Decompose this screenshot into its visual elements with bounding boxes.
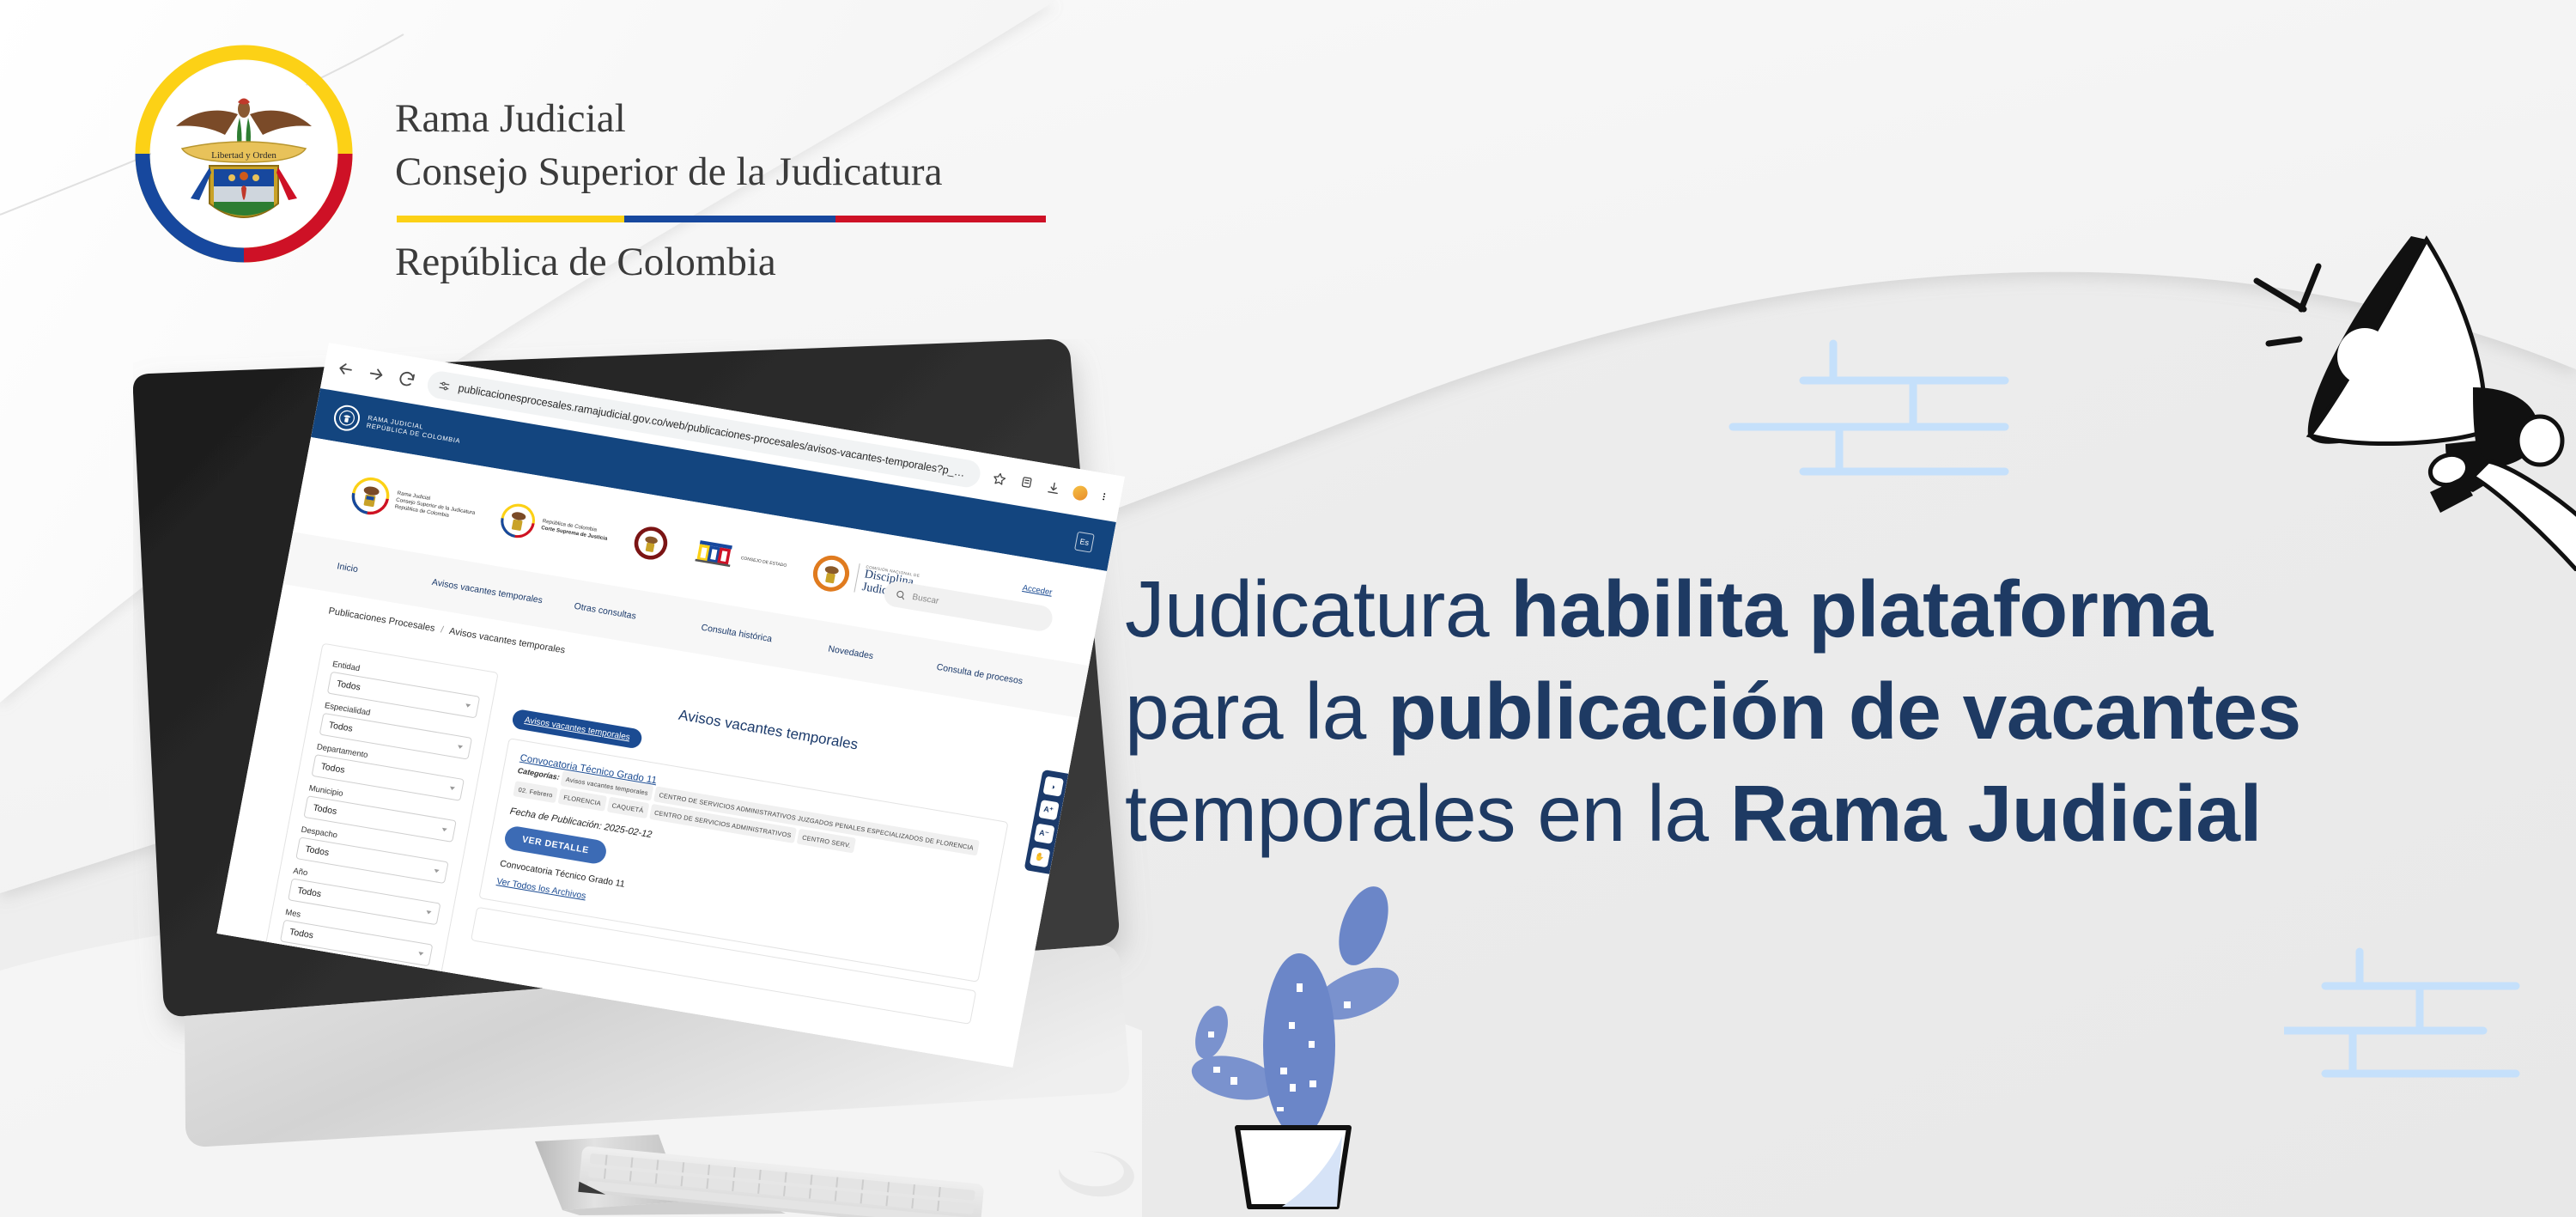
chevron-down-icon: [457, 745, 463, 749]
chevron-down-icon: [434, 869, 440, 873]
brand-line-3: República de Colombia: [395, 238, 1046, 286]
corte-suprema-seal-icon: [497, 500, 539, 541]
category-chip[interactable]: CAQUETÁ: [606, 797, 649, 819]
filter-value-departamento: Todos: [320, 761, 346, 775]
emblem-corte-suprema-label: República de Colombia Corte Suprema de J…: [540, 518, 609, 543]
institutional-header: Libertad y Orden Rama Judicial Consejo S…: [129, 47, 1046, 286]
headline-seg-2: habilita plataforma: [1510, 564, 2212, 654]
topbar-brand: RAMA JUDICIAL REPÚBLICA DE COLOMBIA: [331, 403, 464, 449]
brick-pattern-bottom: [2284, 936, 2576, 1108]
result-categories-label: Categorías:: [517, 766, 561, 782]
site-settings-icon[interactable]: [437, 378, 453, 392]
chevron-down-icon: [441, 828, 447, 832]
filter-value-especialidad: Todos: [328, 720, 354, 733]
result-date-value: 2025-02-12: [604, 822, 653, 840]
filter-value-despacho: Todos: [304, 844, 330, 858]
chevron-down-icon: [418, 952, 424, 956]
filter-value-mes: Todos: [289, 927, 314, 940]
nav-item-consulta-historica[interactable]: Consulta histórica: [700, 622, 829, 654]
search-icon: [895, 589, 907, 601]
increase-text-icon[interactable]: A⁺: [1038, 800, 1060, 820]
headline-seg-5: temporales en la: [1125, 769, 1730, 858]
rama-judicial-seal-icon: [348, 473, 394, 519]
tricolor-rule: [397, 216, 1046, 222]
filter-value-municipio: Todos: [313, 803, 338, 817]
chevron-down-icon: [426, 910, 432, 915]
megaphone-icon: [2215, 219, 2576, 571]
consejo-de-estado-icon: [691, 533, 738, 574]
sign-language-icon[interactable]: ✋: [1029, 847, 1050, 867]
emblem-rama-judicial: Rama Judicial Consejo Superior de la Jud…: [348, 473, 479, 532]
nav-item-inicio[interactable]: Inicio: [336, 561, 433, 587]
cactus-icon: [1181, 863, 1438, 1217]
kebab-menu-icon[interactable]: [1098, 488, 1110, 505]
filter-value-ano: Todos: [296, 885, 322, 899]
avatar[interactable]: [1072, 484, 1089, 502]
brand-line-1: Rama Judicial: [395, 92, 1046, 145]
reload-icon[interactable]: [396, 368, 418, 390]
emblem-corte-suprema: República de Colombia Corte Suprema de J…: [497, 500, 611, 553]
language-switch[interactable]: Es: [1074, 532, 1095, 553]
nav-item-consulta-procesos[interactable]: Consulta de procesos: [936, 661, 1024, 687]
share-icon[interactable]: [1018, 475, 1036, 493]
emblem-consejo-de-estado: CONSEJO DE ESTADO: [691, 533, 790, 582]
headline-seg-1: Judicatura: [1125, 564, 1510, 654]
consejo-de-estado-label: CONSEJO DE ESTADO: [740, 555, 787, 569]
desktop-computer-mockup: publicacionesprocesales.ramajudicial.gov…: [133, 339, 1163, 1217]
topbar-seal-label: RAMA JUDICIAL REPÚBLICA DE COLOMBIA: [366, 413, 463, 445]
emblem-rama-judicial-label: Rama Judicial Consejo Superior de la Jud…: [394, 490, 477, 524]
breadcrumb-separator: /: [440, 624, 444, 635]
chevron-down-icon: [449, 787, 455, 791]
category-chip[interactable]: 02. Febrero: [513, 781, 558, 803]
breadcrumb-current: Avisos vacantes temporales: [448, 626, 566, 655]
nav-item-otras-consultas[interactable]: Otras consultas: [574, 600, 702, 633]
search-placeholder: Buscar: [912, 592, 940, 605]
headline-seg-4: publicación de vacantes: [1388, 666, 2301, 756]
disciplina-judicial-seal-icon: [808, 551, 854, 596]
headline-seg-3: para la: [1125, 666, 1388, 756]
breadcrumb-root[interactable]: Publicaciones Procesales: [328, 605, 436, 634]
topbar-seal-icon: [331, 403, 361, 432]
chevron-down-icon: [465, 703, 471, 708]
back-arrow-icon[interactable]: [335, 358, 357, 380]
download-icon[interactable]: [1044, 479, 1062, 497]
corte-constitucional-seal-icon: [630, 522, 672, 563]
decrease-text-icon[interactable]: A⁻: [1033, 824, 1054, 844]
star-icon[interactable]: [990, 470, 1008, 488]
ver-detalle-button[interactable]: VER DETALLE: [503, 825, 608, 865]
forward-arrow-icon[interactable]: [365, 363, 387, 385]
headline-seg-6: Rama Judicial: [1730, 769, 2262, 858]
nav-item-avisos-vacantes[interactable]: Avisos vacantes temporales: [431, 576, 575, 612]
page-headline: Judicatura habilita plataforma para la p…: [1125, 558, 2550, 865]
filter-value-entidad: Todos: [336, 678, 361, 692]
acceder-link[interactable]: Acceder: [1022, 583, 1053, 598]
brand-line-2: Consejo Superior de la Judicatura: [395, 145, 1046, 198]
contrast-icon[interactable]: ◑: [1042, 776, 1064, 797]
nav-item-novedades[interactable]: Novedades: [827, 643, 938, 672]
colombia-coat-of-arms-seal: Libertad y Orden: [129, 39, 359, 269]
svg-text:Libertad y Orden: Libertad y Orden: [211, 150, 276, 161]
brick-pattern-top: [1709, 331, 2009, 502]
